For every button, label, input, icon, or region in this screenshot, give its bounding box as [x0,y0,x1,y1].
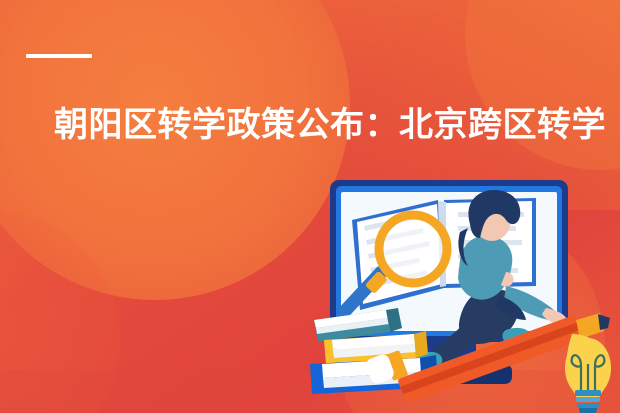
idea-lightbulb [565,334,611,413]
page-title: 朝阳区转学政策公布：北京跨区转学 [54,104,614,146]
bulb-base [575,390,601,413]
banner-card: 朝阳区转学政策公布：北京跨区转学 [0,0,620,413]
pencil-lead [598,314,610,330]
title-accent-rule [26,54,92,58]
online-learning-illustration [310,168,620,413]
